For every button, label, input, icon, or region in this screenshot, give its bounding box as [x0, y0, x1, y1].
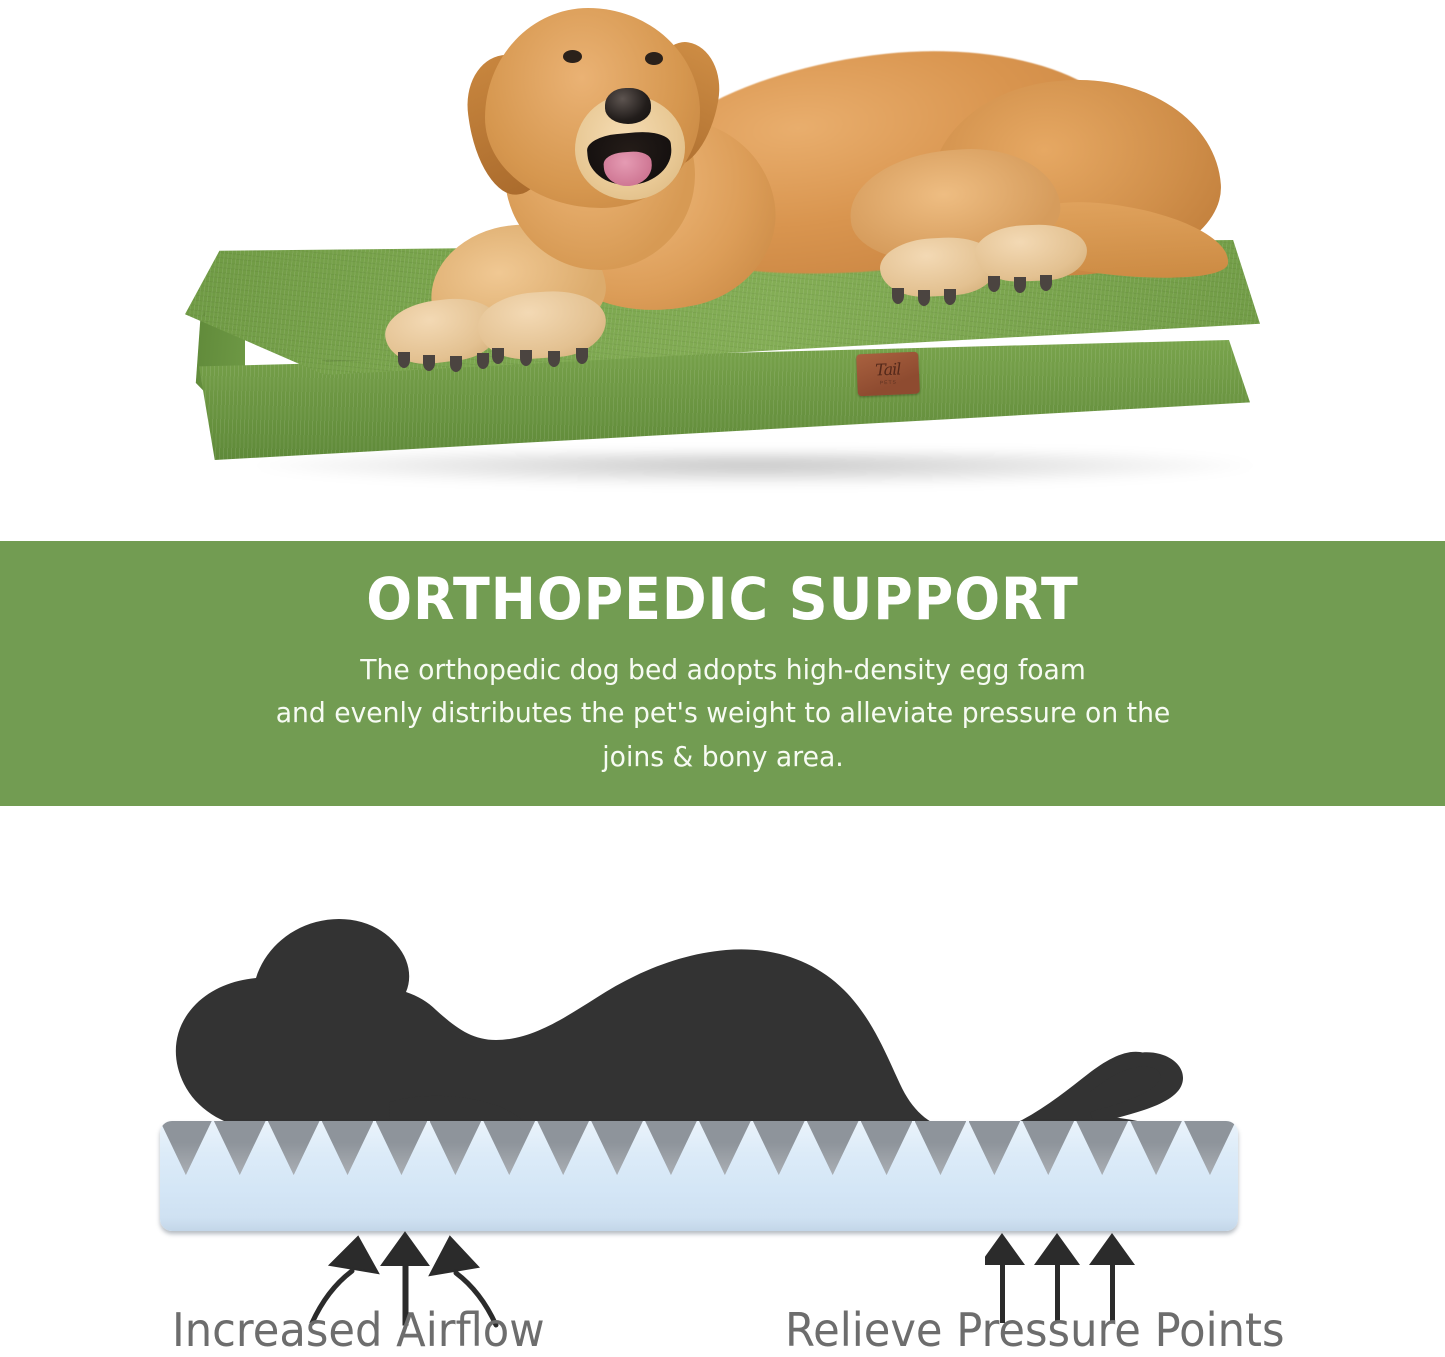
egg-crate-foam-slab: [160, 1121, 1238, 1231]
product-photo: Tail PETS: [0, 0, 1445, 541]
dog-claw: [477, 353, 489, 369]
foam-tooth: [160, 1121, 212, 1175]
dog-claw: [918, 290, 930, 306]
orthopedic-support-banner: ORTHOPEDIC SUPPORT The orthopedic dog be…: [0, 541, 1445, 806]
dog-nose: [605, 88, 651, 124]
foam-tooth: [268, 1121, 320, 1175]
banner-description-line-3: joins & bony area.: [210, 735, 1236, 778]
foam-tooth: [430, 1121, 482, 1175]
foam-tooth: [537, 1121, 589, 1175]
dog-left-eye: [563, 50, 582, 63]
dog-claw: [548, 351, 560, 367]
brand-leather-patch: Tail PETS: [856, 352, 920, 397]
foam-tooth: [483, 1121, 535, 1175]
dog-claw: [892, 288, 904, 304]
dog-claw: [520, 350, 532, 366]
foam-tooth: [376, 1121, 428, 1175]
dog-claw: [944, 289, 956, 305]
foam-tooth: [969, 1121, 1021, 1175]
brand-mark-text: Tail: [875, 361, 901, 378]
banner-description: The orthopedic dog bed adopts high-densi…: [210, 648, 1236, 778]
dog-claw: [988, 276, 1000, 292]
dog-claw: [1014, 277, 1026, 293]
foam-tooth-row: [160, 1121, 1238, 1177]
foam-tooth: [861, 1121, 913, 1175]
dog-claw: [398, 352, 410, 368]
brand-sub-text: PETS: [880, 380, 897, 387]
foam-diagram-section: Increased Airflow Relieve Pressure Point…: [0, 806, 1445, 1349]
foam-tooth: [807, 1121, 859, 1175]
foam-tooth: [1130, 1121, 1182, 1175]
dog-claw: [1040, 275, 1052, 291]
foam-tooth: [214, 1121, 266, 1175]
dog-silhouette-shape: [176, 919, 1174, 1136]
banner-title: ORTHOPEDIC SUPPORT: [51, 541, 1395, 630]
dog-silhouette: [160, 906, 1245, 1136]
foam-tooth: [699, 1121, 751, 1175]
dog-claw: [423, 355, 435, 371]
foam-tooth: [1022, 1121, 1074, 1175]
hero-product-photo-section: Tail PETS: [0, 0, 1445, 541]
banner-description-line-1: The orthopedic dog bed adopts high-densi…: [210, 648, 1236, 691]
dog-right-eye: [645, 52, 663, 65]
foam-tooth: [1184, 1121, 1236, 1175]
foam-tooth: [645, 1121, 697, 1175]
foam-tooth: [591, 1121, 643, 1175]
foam-tooth: [915, 1121, 967, 1175]
dog-claw: [576, 348, 588, 364]
foam-tooth: [753, 1121, 805, 1175]
bed-drop-shadow: [255, 452, 1255, 486]
dog-claw: [492, 348, 504, 364]
foam-tooth: [1076, 1121, 1128, 1175]
dog-claw: [450, 356, 462, 372]
foam-tooth: [322, 1121, 374, 1175]
banner-description-line-2: and evenly distributes the pet's weight …: [210, 691, 1236, 734]
